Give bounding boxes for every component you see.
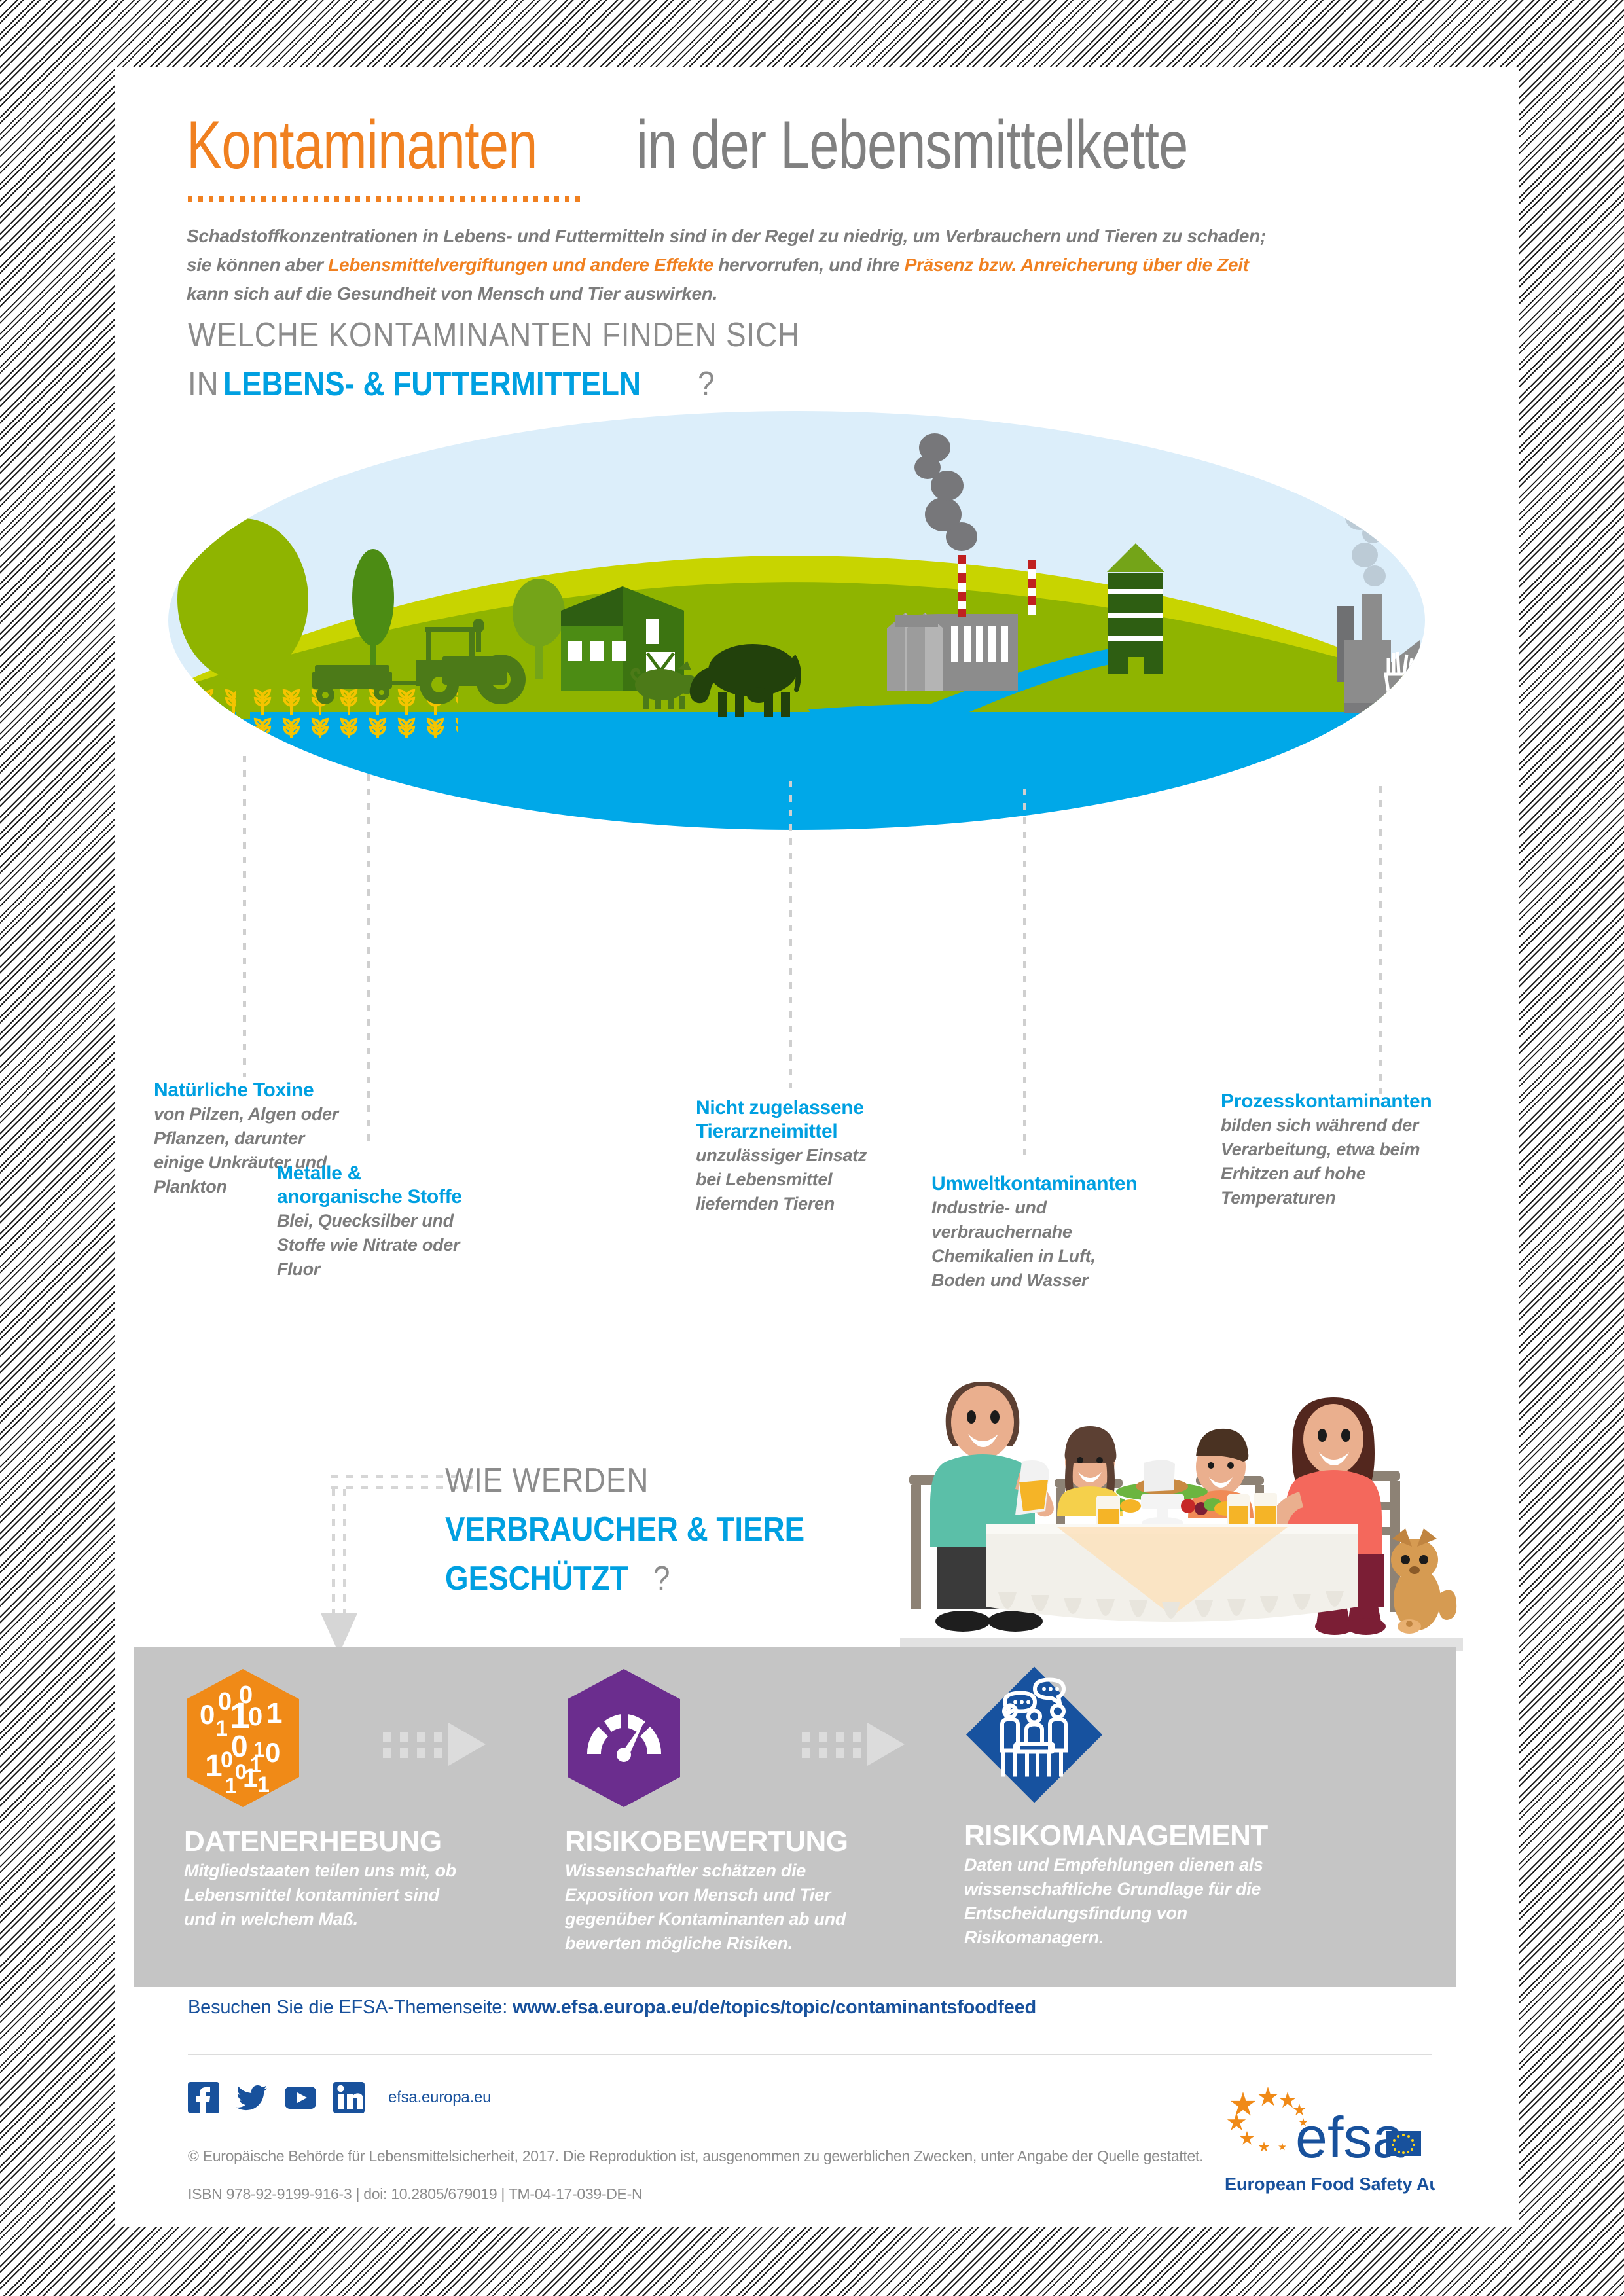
elbow-arrow-down-segment (332, 1489, 335, 1613)
svg-text:0: 0 (200, 1699, 215, 1730)
section2-line2: VERBRAUCHER & TIERE (445, 1509, 804, 1550)
callout-process-contaminants: Prozesskontaminanten bilden sich während… (1221, 1090, 1450, 1210)
facebook-icon[interactable] (188, 2082, 219, 2113)
callout-heading: Umweltkontaminanten (931, 1172, 1147, 1196)
social-label[interactable]: efsa.europa.eu (388, 2089, 491, 2107)
eu-flag-icon (1386, 2131, 1421, 2156)
section1-line1: WELCHE KONTAMINANTEN FINDEN SICH (188, 315, 800, 355)
svg-text:1: 1 (205, 1749, 223, 1784)
family-dining-illustration (900, 1331, 1463, 1651)
visit-label: Besuchen Sie die EFSA-Themenseite: (188, 1997, 513, 2018)
poster-page: Kontaminanten in der Lebensmittelkette S… (115, 67, 1519, 2227)
leader-line-2 (367, 774, 370, 1141)
intro-paragraph: Schadstoffkonzentrationen in Lebens- und… (187, 222, 1430, 308)
svg-text:1: 1 (215, 1716, 228, 1741)
risk-management-badge-icon (964, 1660, 1105, 1809)
chimney-left (958, 555, 966, 617)
process-step-body: Mitgliedstaaten teilen uns mit, ob Leben… (184, 1859, 465, 1931)
process-step-title: RISIKOBEWERTUNG (565, 1825, 971, 1859)
linkedin-icon[interactable] (333, 2082, 365, 2113)
section2-line3-suffix: ? (653, 1558, 670, 1599)
wheat-field (134, 686, 458, 738)
callout-body: bilden sich während der Verarbeitung, et… (1221, 1113, 1450, 1210)
process-step-title: RISIKOMANAGEMENT (964, 1819, 1370, 1853)
svg-text:1: 1 (257, 1772, 270, 1797)
title-dot-rule (188, 196, 581, 202)
svg-text:1: 1 (266, 1697, 282, 1729)
leader-line-5 (1379, 786, 1382, 1094)
visit-url[interactable]: www.efsa.europa.eu/de/topics/topic/conta… (513, 1997, 1036, 2018)
process-steps-panel: 0 0 0 1 1 0 1 0 1 0 1 0 0 1 1 1 1 (134, 1647, 1456, 1987)
intro-highlight-2: Präsenz bzw. Anreicherung über die Zeit (905, 255, 1249, 275)
process-step-risk-assessment: RISIKOBEWERTUNG Wissenschaftler schätzen… (565, 1668, 971, 1956)
page-title: Kontaminanten in der Lebensmittelkette (187, 107, 1343, 185)
risk-assessment-badge-icon (565, 1668, 683, 1808)
leader-line-3 (789, 781, 792, 1088)
efsa-logo: efsa European Food Safety Authority (1219, 2080, 1435, 2204)
intro-line-2a: sie können aber (187, 255, 328, 275)
footer-divider (188, 2054, 1432, 2055)
section2-line1: WIE WERDEN (445, 1460, 649, 1501)
callout-heading: Nicht zugelassene Tierarzneimittel (696, 1096, 892, 1143)
social-links: efsa.europa.eu (188, 2082, 491, 2113)
intro-line-2c: hervorrufen, und ihre (713, 255, 905, 275)
svg-text:0: 0 (265, 1737, 280, 1768)
process-arrow-1-icon (383, 1715, 488, 1774)
callout-heading: Prozesskontaminanten (1221, 1090, 1450, 1113)
svg-text:1: 1 (225, 1774, 237, 1799)
callout-body: Blei, Quecksilber und Stoffe wie Nitrate… (277, 1209, 473, 1282)
callout-heading: Natürliche Toxine (154, 1079, 350, 1102)
process-step-risk-management: RISIKOMANAGEMENT Daten und Empfehlungen … (964, 1660, 1370, 1950)
process-step-body: Daten und Empfehlungen dienen als wissen… (964, 1853, 1311, 1950)
callout-body: Industrie- und verbrauchernahe Chemikali… (931, 1196, 1147, 1293)
efsa-logo-subtitle: European Food Safety Authority (1225, 2174, 1435, 2194)
svg-text:0: 0 (221, 1748, 233, 1772)
intro-line-1: Schadstoffkonzentrationen in Lebens- und… (187, 226, 1266, 246)
table-with-cloth (986, 1524, 1358, 1622)
callout-metals-inorganic: Metalle & anorganische Stoffe Blei, Quec… (277, 1162, 473, 1282)
section2-line3-bold: GESCHÜTZT (445, 1558, 628, 1599)
copyright-text: © Europäische Behörde für Lebensmittelsi… (188, 2147, 1203, 2165)
table-food (1096, 1460, 1277, 1531)
intro-line-3: kann sich auf die Gesundheit von Mensch … (187, 283, 717, 304)
page-title-highlight: Kontaminanten (187, 107, 537, 185)
youtube-icon[interactable] (285, 2082, 316, 2113)
elbow-arrow-down-segment-2 (343, 1489, 346, 1613)
svg-text:0: 0 (231, 1729, 248, 1763)
process-step-title: DATENERHEBUNG (184, 1825, 590, 1859)
section-heading-protection: WIE WERDEN VERBRAUCHER & TIERE GESCHÜTZT… (445, 1460, 854, 1607)
data-collection-badge-icon: 0 0 0 1 1 0 1 0 1 0 1 0 0 1 1 1 1 (184, 1668, 302, 1808)
dog (1391, 1528, 1456, 1634)
svg-text:0: 0 (248, 1702, 262, 1731)
callout-environmental-contaminants: Umweltkontaminanten Industrie- und verbr… (931, 1172, 1147, 1293)
callout-unauthorised-veterinary-medicines: Nicht zugelassene Tierarzneimittel unzul… (696, 1096, 892, 1216)
leader-line-4 (1023, 789, 1026, 1155)
callout-body: unzulässiger Einsatz bei Lebensmittel li… (696, 1143, 892, 1216)
intro-highlight-1: Lebensmittelvergiftungen und andere Effe… (328, 255, 713, 275)
leader-line-1 (243, 756, 246, 1077)
process-arrow-2-icon (802, 1715, 907, 1774)
page-title-rest: in der Lebensmittelkette (636, 107, 1188, 185)
isbn-doi-text: ISBN 978-92-9199-916-3 | doi: 10.2805/67… (188, 2185, 642, 2203)
svg-text:1: 1 (243, 1764, 257, 1793)
farm-to-factory-landscape-illustration (75, 398, 1519, 830)
chimney-right (1028, 560, 1036, 615)
callout-heading: Metalle & anorganische Stoffe (277, 1162, 473, 1209)
visit-link[interactable]: Besuchen Sie die EFSA-Themenseite: www.e… (188, 1997, 1036, 2018)
process-step-data-collection: 0 0 0 1 1 0 1 0 1 0 1 0 0 1 1 1 1 (184, 1668, 590, 1931)
process-step-body: Wissenschaftler schätzen die Exposition … (565, 1859, 899, 1956)
twitter-icon[interactable] (236, 2082, 268, 2113)
